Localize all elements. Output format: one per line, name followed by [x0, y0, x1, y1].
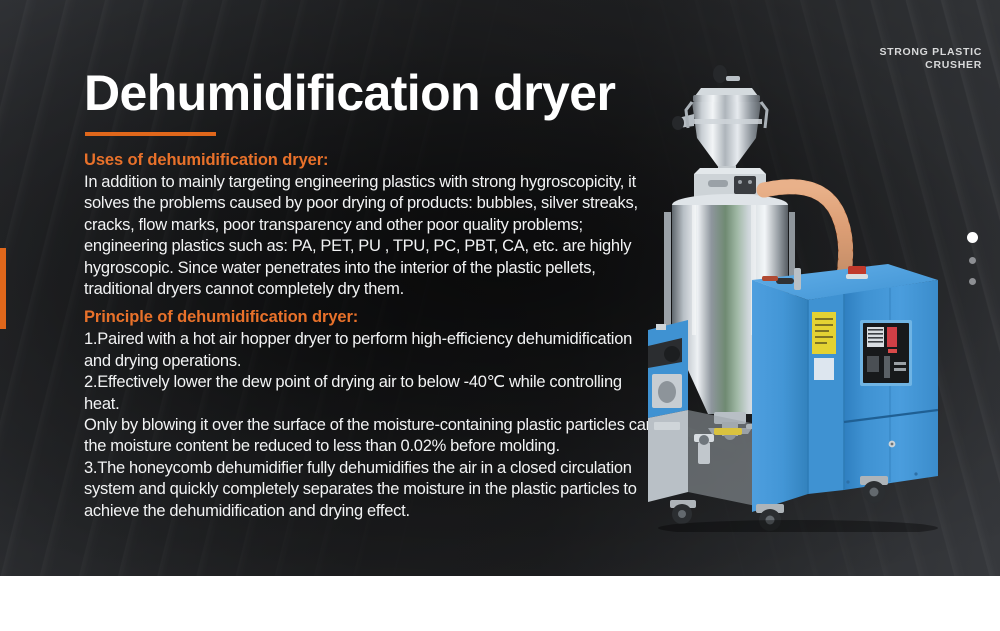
carousel-pagination[interactable]	[964, 232, 980, 285]
slide-canvas: STRONG PLASTIC CRUSHER Dehumidification …	[0, 0, 1000, 631]
hopper-loader	[672, 65, 767, 174]
uses-heading: Uses of dehumidification dryer:	[84, 150, 656, 171]
dryer-cabinet	[752, 264, 938, 512]
title-underline	[85, 132, 216, 136]
principle-paragraph-1: 1.Paired with a hot air hopper dryer to …	[84, 329, 656, 372]
principle-heading: Principle of dehumidification dryer:	[84, 307, 656, 328]
pagination-dot-1[interactable]	[967, 232, 978, 243]
pagination-dot-2[interactable]	[969, 257, 976, 264]
left-control-box	[648, 320, 688, 418]
copy-block: Dehumidification dryer Uses of dehumidif…	[84, 66, 656, 522]
brand-line-1: STRONG PLASTIC	[879, 46, 982, 59]
left-accent-tab	[0, 248, 6, 329]
principle-paragraph-2: 2.Effectively lower the dew point of dry…	[84, 372, 656, 415]
bottom-white-bar	[0, 576, 1000, 631]
uses-paragraph-1: In addition to mainly targeting engineer…	[84, 172, 656, 300]
hero-banner: STRONG PLASTIC CRUSHER Dehumidification …	[0, 0, 1000, 576]
control-panel[interactable]	[860, 320, 912, 386]
page-title: Dehumidification dryer	[84, 66, 656, 120]
principle-paragraph-4: 3.The honeycomb dehumidifier fully dehum…	[84, 458, 656, 522]
product-photo	[648, 62, 938, 532]
principle-paragraph-3: Only by blowing it over the surface of t…	[84, 415, 656, 458]
product-illustration	[648, 62, 938, 532]
pagination-dot-3[interactable]	[969, 278, 976, 285]
